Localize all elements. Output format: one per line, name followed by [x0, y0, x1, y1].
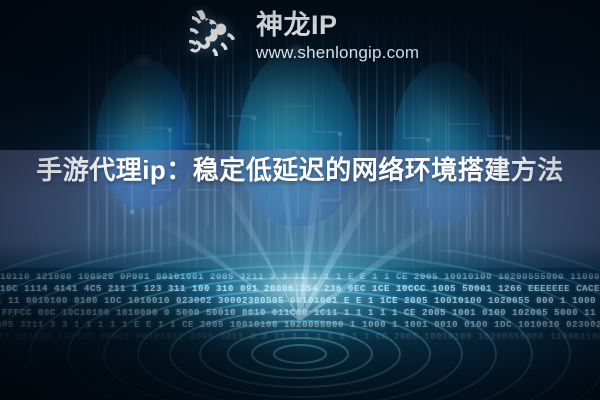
- vignette: [0, 0, 600, 400]
- promo-banner: 神龙IP www.shenlongip.com: [0, 0, 600, 400]
